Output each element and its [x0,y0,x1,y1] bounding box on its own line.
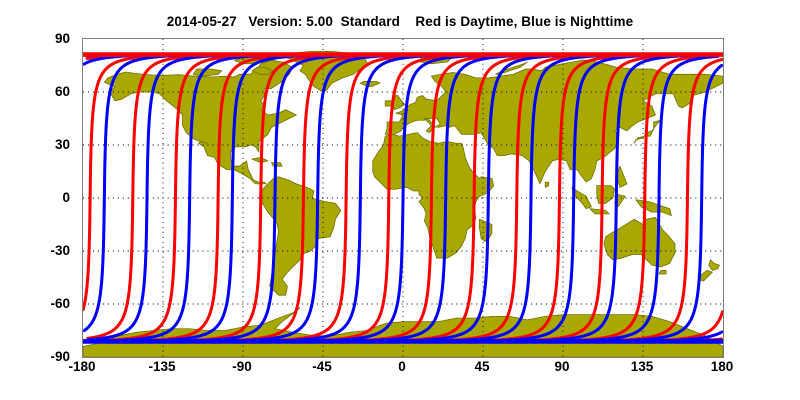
x-tick-label: -135 [132,360,192,374]
chart-title: 2014-05-27 Version: 5.00 Standard Red is… [0,14,800,29]
x-tick-label: -180 [52,360,112,374]
x-tick-label: 45 [452,360,512,374]
y-tick-label: -60 [8,297,70,311]
y-tick-label: 0 [8,191,70,205]
south-polar-band [83,339,723,344]
land-polygon-tasmania [659,270,666,274]
satellite-ground-track-figure: 2014-05-27 Version: 5.00 Standard Red is… [0,0,800,400]
x-tick-label: -90 [212,360,272,374]
y-tick-label: -30 [8,244,70,258]
y-tick-label: 90 [8,32,70,46]
x-tick-label: 0 [372,360,432,374]
plot-area [82,38,724,358]
plot-clip [83,39,723,357]
x-tick-label: 135 [612,360,672,374]
x-tick-label: -45 [292,360,352,374]
x-tick-label: 90 [532,360,592,374]
x-tick-label: 180 [692,360,752,374]
world-map-with-ground-tracks [83,39,723,357]
north-polar-band [83,52,723,57]
y-tick-label: 30 [8,138,70,152]
y-tick-label: 60 [8,85,70,99]
